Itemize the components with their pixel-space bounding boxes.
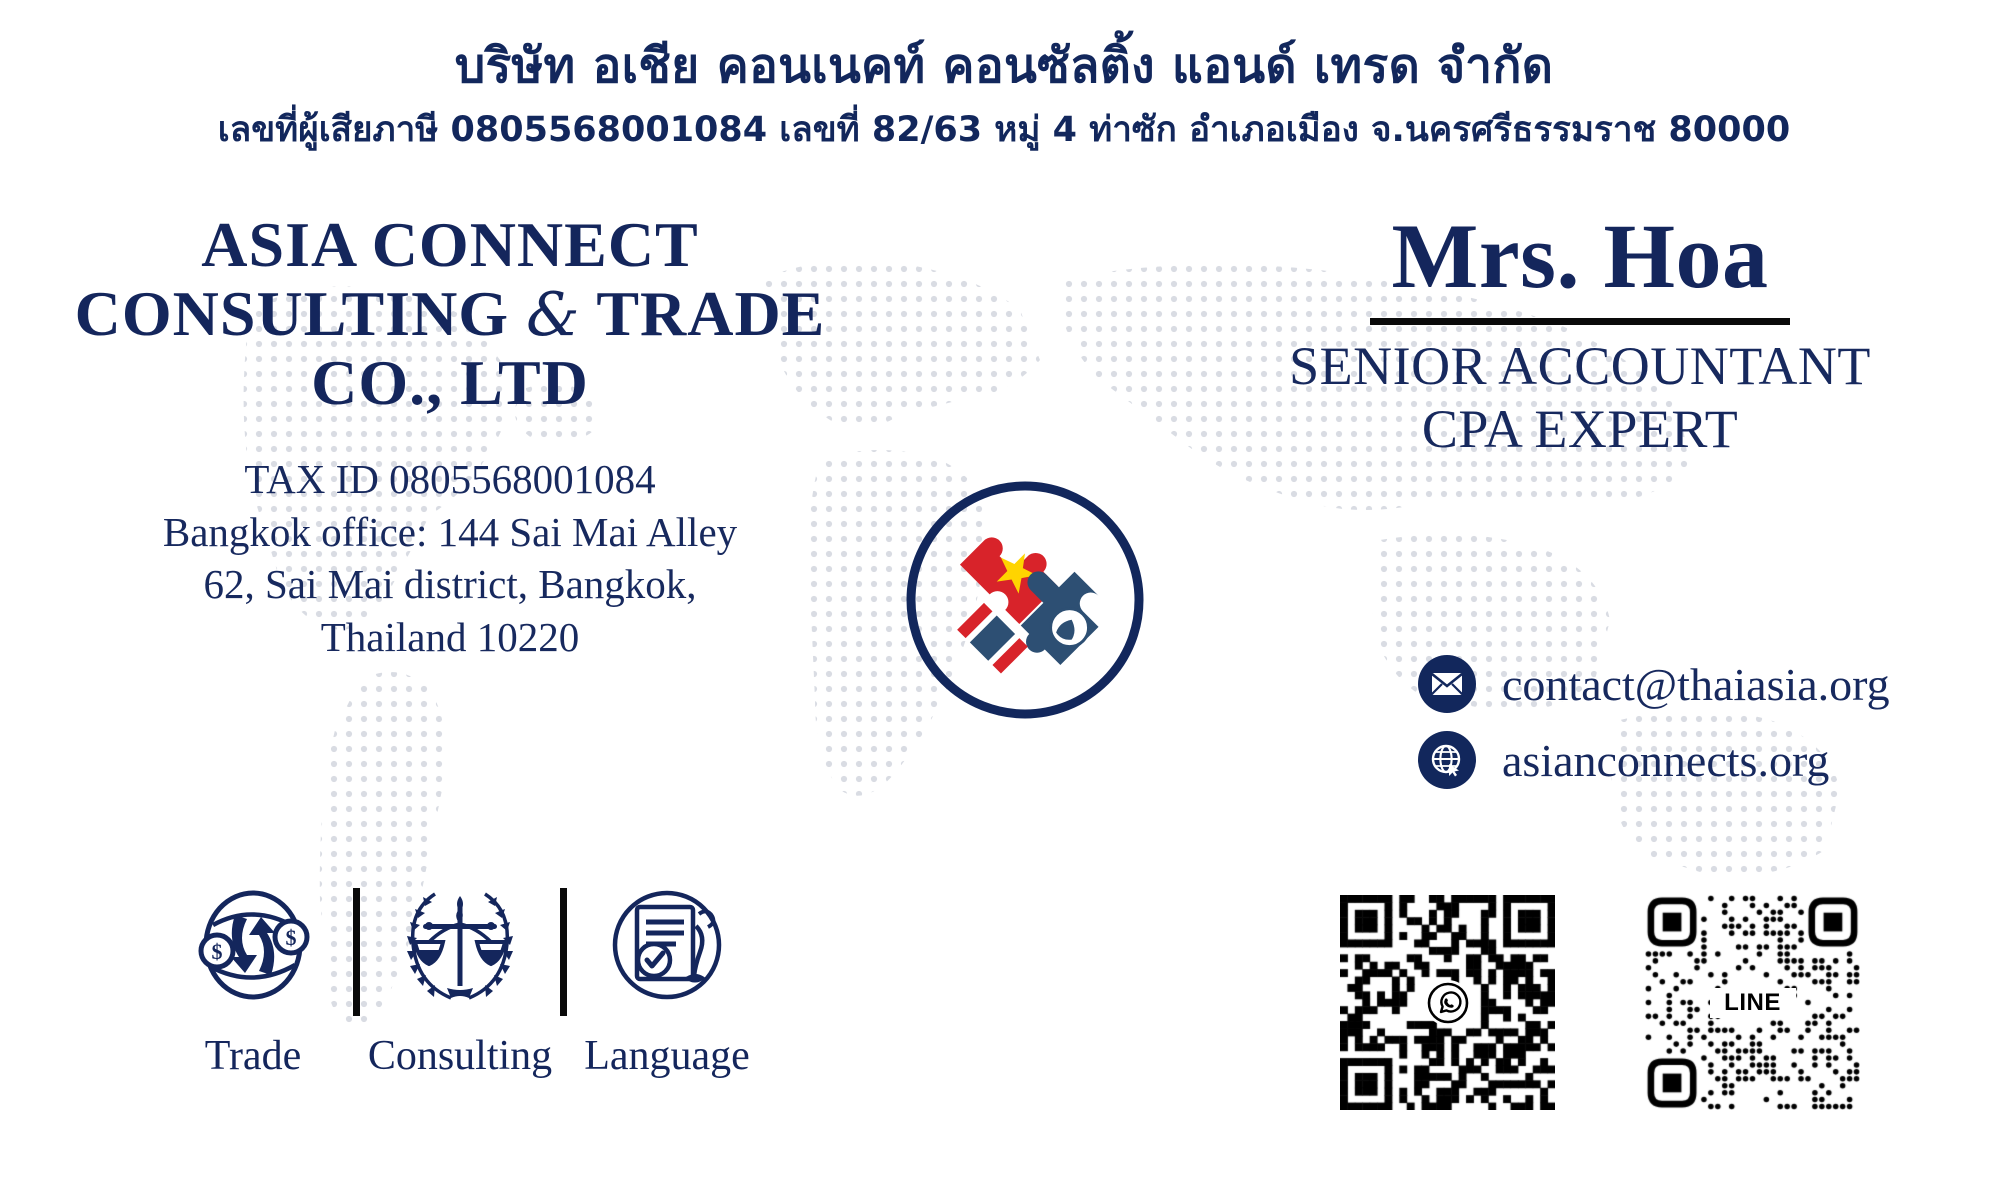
contact-row-email[interactable]: contact@thaiasia.org [1228, 655, 1928, 713]
email-address[interactable]: contact@thaiasia.org [1502, 658, 1890, 711]
trade-globe-currency-icon: $ $ [191, 880, 315, 1010]
website-url[interactable]: asianconnects.org [1502, 734, 1829, 787]
address-line-1: Bangkok office: 144 Sai Mai Alley [60, 506, 840, 558]
service-item-trade: $ $ Trade [153, 880, 353, 1080]
company-name-line-1: ASIA CONNECT [60, 210, 840, 279]
person-name: Mrs. Hoa [1200, 210, 1960, 302]
address-line-3: Thailand 10220 [60, 611, 840, 663]
whatsapp-qr-code[interactable] [1340, 895, 1555, 1110]
service-item-language: Language [567, 880, 767, 1080]
company-name-trade: TRADE [580, 278, 825, 349]
company-block: ASIA CONNECT CONSULTING & TRADE CO., LTD… [60, 210, 840, 663]
card-header: บริษัท อเชีย คอนเนคท์ คอนซัลติ้ง แอนด์ เ… [0, 0, 2008, 154]
person-title-line-1: SENIOR ACCOUNTANT [1200, 335, 1960, 398]
service-divider-2 [560, 888, 567, 1016]
company-name-line-2: CONSULTING & TRADE [60, 279, 840, 348]
contact-list: contact@thaiasia.org asianconnects.org [1228, 655, 1928, 807]
service-label-trade: Trade [205, 1032, 301, 1080]
person-title: SENIOR ACCOUNTANT CPA EXPERT [1200, 335, 1960, 461]
email-envelope-icon [1418, 655, 1476, 713]
scales-of-justice-laurel-icon [395, 880, 525, 1010]
company-name-consulting: CONSULTING [75, 278, 526, 349]
service-item-consulting: Consulting [360, 880, 560, 1080]
name-divider-rule [1370, 318, 1790, 325]
company-name-line-3: CO., LTD [60, 348, 840, 417]
line-wordmark: LINE [1710, 988, 1796, 1018]
person-block: Mrs. Hoa SENIOR ACCOUNTANT CPA EXPERT [1200, 210, 1960, 461]
globe-website-icon [1418, 731, 1476, 789]
asia-connect-puzzle-emblem [900, 475, 1150, 725]
thai-tax-address: เลขที่ผู้เสียภาษี 0805568001084 เลขที่ 8… [0, 108, 2008, 154]
whatsapp-icon [1425, 980, 1471, 1026]
service-label-consulting: Consulting [368, 1032, 552, 1080]
service-label-language: Language [584, 1032, 750, 1080]
address-line-2: 62, Sai Mai district, Bangkok, [60, 558, 840, 610]
company-name: ASIA CONNECT CONSULTING & TRADE CO., LTD [60, 210, 840, 417]
ampersand-glyph: & [526, 280, 580, 350]
company-address: TAX ID 0805568001084 Bangkok office: 144… [60, 453, 840, 663]
service-divider-1 [353, 888, 360, 1016]
services-row: $ $ Trade [60, 880, 860, 1080]
svg-text:$: $ [286, 925, 297, 950]
svg-text:$: $ [212, 939, 223, 964]
business-card: บริษัท อเชีย คอนเนคท์ คอนซัลติ้ง แอนด์ เ… [0, 0, 2008, 1181]
tax-id-line: TAX ID 0805568001084 [60, 453, 840, 505]
qr-code-group: LINE [1340, 895, 1860, 1110]
contact-row-website[interactable]: asianconnects.org [1228, 731, 1928, 789]
thai-company-name: บริษัท อเชีย คอนเนคท์ คอนซัลติ้ง แอนด์ เ… [0, 36, 2008, 96]
document-check-translation-icon [604, 880, 730, 1010]
person-title-line-2: CPA EXPERT [1200, 398, 1960, 461]
line-qr-code[interactable]: LINE [1645, 895, 1860, 1110]
